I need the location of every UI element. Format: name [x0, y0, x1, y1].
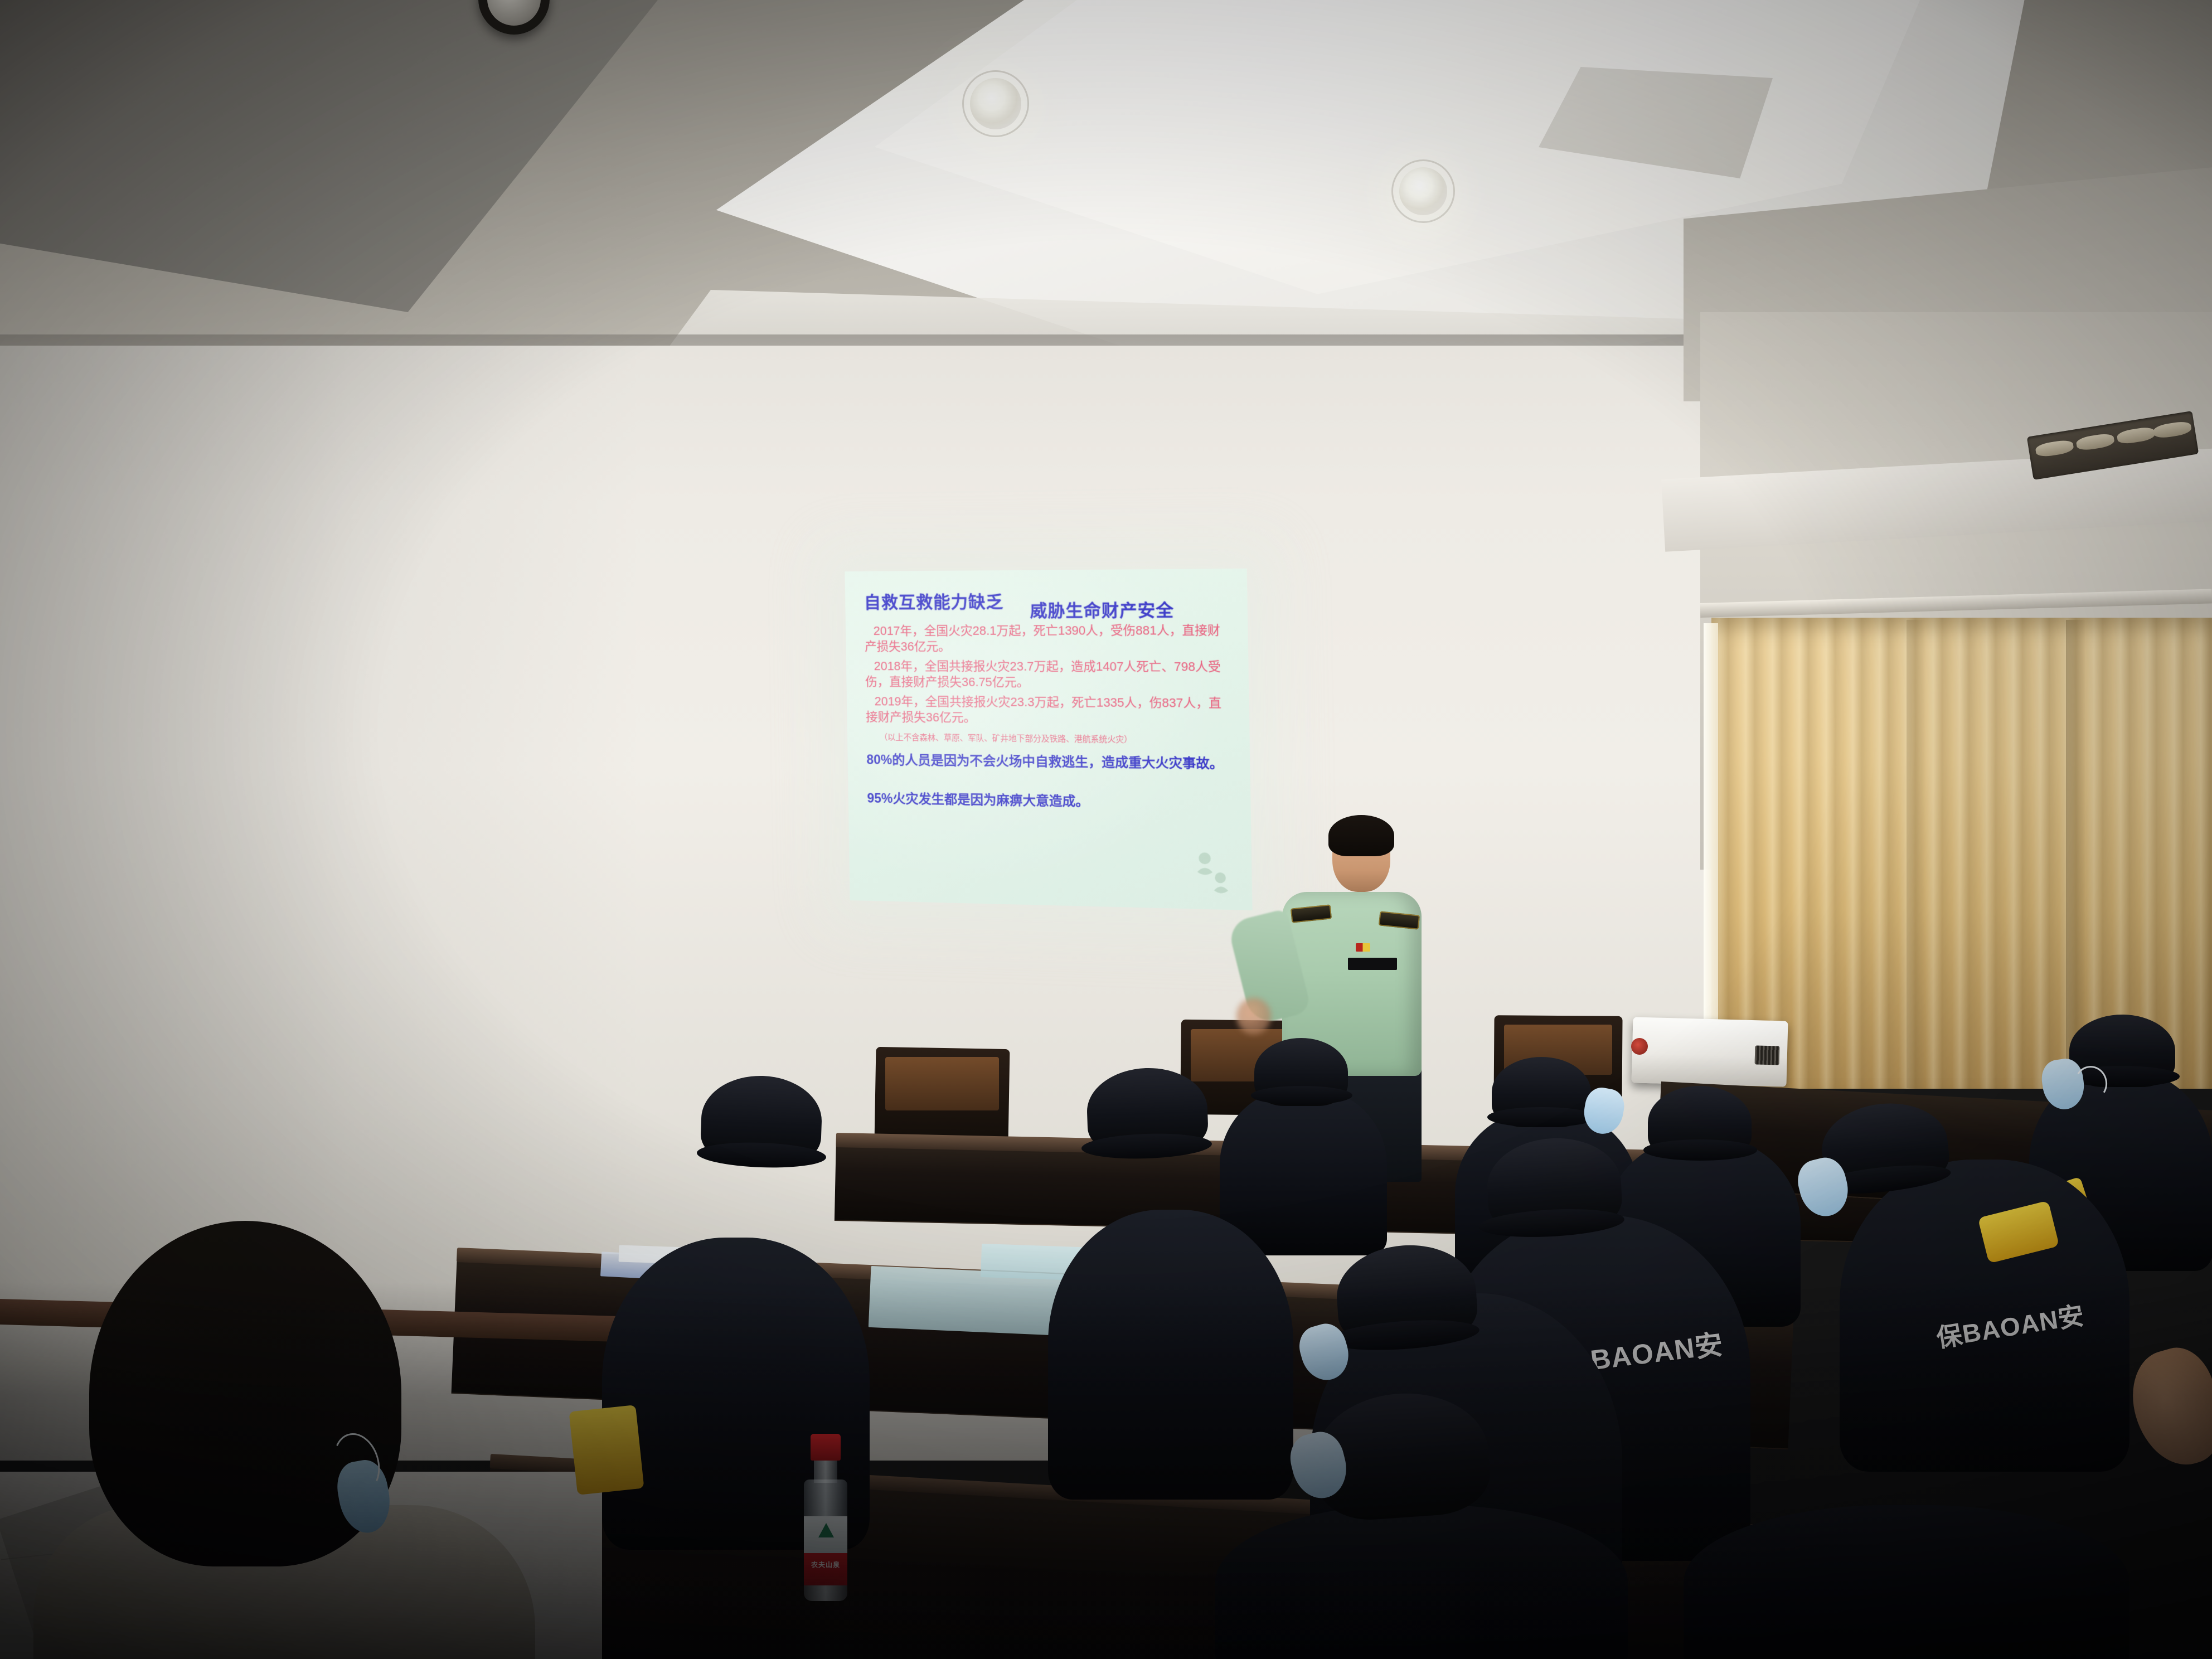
- attendee-left-2-torso: [1048, 1210, 1293, 1500]
- downlight-2-ring: [1391, 159, 1455, 223]
- slide-highlight-80: 80%的人员是因为不会火场中自救逃生，造成重大火灾事故。: [866, 751, 1232, 772]
- conference-room-photo: 自救互救能力缺乏 威胁生命财产安全 2017年，全国火灾28.1万起，死亡139…: [0, 0, 2212, 1659]
- stat-line-2017: 2017年，全国火灾28.1万起，死亡1390人，受伤881人，直接财产损失36…: [865, 622, 1231, 655]
- water-bottle[interactable]: 农夫山泉: [802, 1434, 850, 1601]
- curtain-fold: [1907, 620, 1925, 1088]
- attendee-back-2-cap-brim: [1487, 1107, 1597, 1127]
- curtain-fold: [2066, 620, 2085, 1088]
- slide-title-left: 自救互救能力缺乏: [864, 593, 1004, 613]
- water-bottle-neck: [814, 1458, 837, 1483]
- slide-statistics: 2017年，全国火灾28.1万起，死亡1390人，受伤881人，直接财产损失36…: [865, 622, 1232, 728]
- attendee-back-1-torso: [1220, 1088, 1387, 1255]
- attendee-back-1-cap-brim: [1251, 1086, 1352, 1105]
- downlight-1-ring: [962, 70, 1029, 137]
- slide-title-right: 威胁生命财产安全: [1030, 601, 1174, 622]
- attendee-front-right-torso: [1684, 1505, 2129, 1659]
- projector-vent-icon: [1755, 1045, 1780, 1065]
- attendee-back-3-cap-brim: [1643, 1139, 1757, 1161]
- presenter-flag-pin-icon: [1356, 943, 1370, 952]
- presenter-hair: [1328, 815, 1394, 856]
- slide-highlight-95: 95%火灾发生都是因为麻痹大意造成。: [867, 790, 1233, 812]
- water-bottle-label-lower: [804, 1553, 847, 1585]
- slide-title: 自救互救能力缺乏 威胁生命财产安全: [864, 592, 1230, 622]
- presenter-hand: [1236, 998, 1271, 1035]
- attendee-left-1-epaulette: [569, 1405, 644, 1495]
- chair-back-left-panel: [885, 1057, 999, 1110]
- presenter-name-badge: [1348, 958, 1397, 970]
- attendee-front-center-torso: [1215, 1505, 1628, 1659]
- slide-watermark-icon: [1186, 843, 1242, 900]
- stat-line-2019: 2019年，全国共接报火灾23.3万起，死亡1335人，伤837人，直接财产损失…: [866, 693, 1232, 728]
- projected-slide: 自救互救能力缺乏 威胁生命财产安全 2017年，全国火灾28.1万起，死亡139…: [845, 569, 1252, 910]
- raised-hand: [2121, 1340, 2212, 1475]
- water-bottle-cap-icon: [811, 1434, 841, 1461]
- slide-footnote: （以上不含森林、草原、军队、矿井地下部分及铁路、港航系统火灾）: [880, 731, 1232, 746]
- water-bottle-brand-text: 农夫山泉: [802, 1560, 850, 1569]
- water-bottle-logo-icon: [818, 1523, 834, 1537]
- stat-line-2018: 2018年，全国共接报火灾23.7万起，造成1407人死亡、798人受伤，直接财…: [865, 658, 1231, 692]
